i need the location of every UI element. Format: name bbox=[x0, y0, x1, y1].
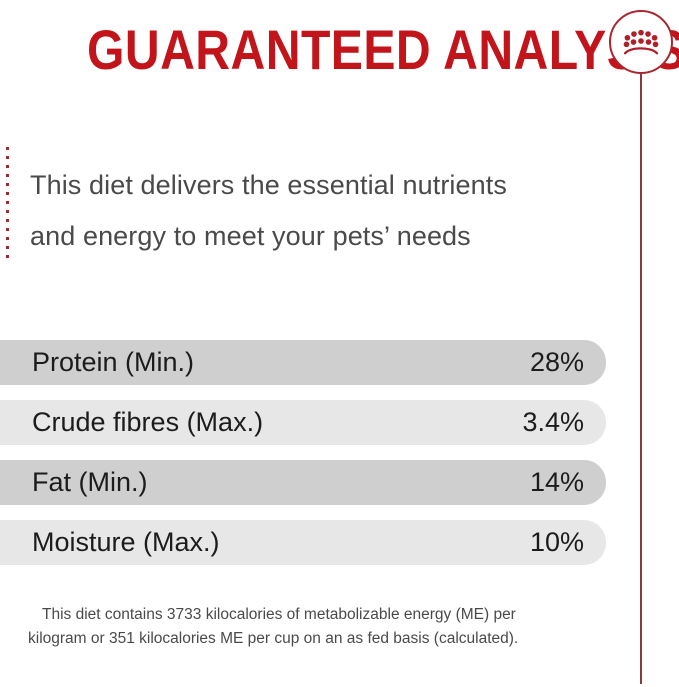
nutrient-value: 3.4% bbox=[522, 409, 584, 436]
nutrient-value: 28% bbox=[530, 349, 584, 376]
nutrient-label: Protein (Min.) bbox=[32, 349, 530, 376]
table-row: Moisture (Max.) 10% bbox=[0, 520, 606, 565]
guaranteed-analysis-panel: GUARANTEED ANALYSIS This diet delivers t… bbox=[0, 0, 679, 687]
right-vertical-rule bbox=[640, 71, 642, 684]
footnote-line-1: This diet contains 3733 kilocalories of … bbox=[28, 603, 606, 627]
table-row: Protein (Min.) 28% bbox=[0, 340, 606, 385]
intro-line-1: This diet delivers the essential nutrien… bbox=[30, 160, 610, 211]
page-title: GUARANTEED ANALYSIS bbox=[87, 21, 679, 79]
intro-line-2: and energy to meet your pets’ needs bbox=[30, 211, 610, 262]
table-row: Crude fibres (Max.) 3.4% bbox=[0, 400, 606, 445]
intro-paragraph: This diet delivers the essential nutrien… bbox=[30, 160, 610, 262]
dotted-accent-rule bbox=[6, 147, 9, 260]
nutrient-value: 10% bbox=[530, 529, 584, 556]
table-row: Fat (Min.) 14% bbox=[0, 460, 606, 505]
nutrient-value: 14% bbox=[530, 469, 584, 496]
nutrient-label: Fat (Min.) bbox=[32, 469, 530, 496]
royal-canin-crown-logo bbox=[609, 10, 673, 74]
footnote: This diet contains 3733 kilocalories of … bbox=[28, 603, 606, 651]
footnote-line-2: kilogram or 351 kilocalories ME per cup … bbox=[28, 627, 606, 651]
analysis-table: Protein (Min.) 28% Crude fibres (Max.) 3… bbox=[0, 340, 606, 580]
nutrient-label: Crude fibres (Max.) bbox=[32, 409, 522, 436]
nutrient-label: Moisture (Max.) bbox=[32, 529, 530, 556]
